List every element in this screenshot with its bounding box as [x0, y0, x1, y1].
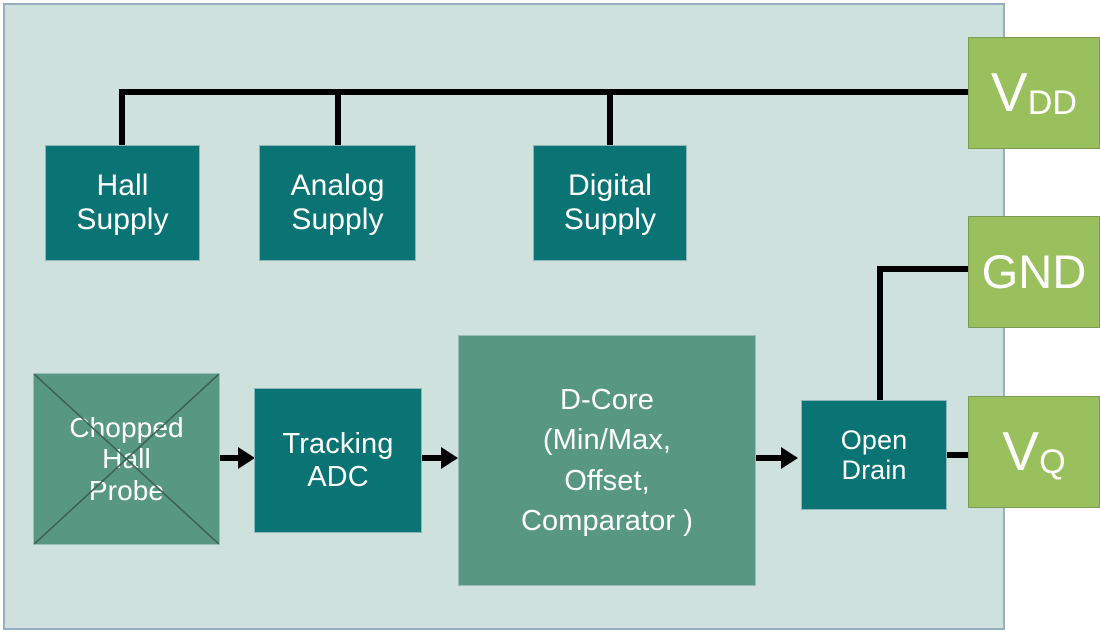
- tracking-adc-line-2: ADC: [307, 461, 369, 493]
- pin-vq-label: V: [1002, 421, 1039, 483]
- block-chopped-hall-probe[interactable]: Chopped Hall Probe: [33, 373, 220, 545]
- block-d-core[interactable]: D-Core (Min/Max, Offset, Comparator ): [458, 335, 756, 586]
- d-core-line-4: Comparator ): [521, 501, 693, 541]
- wire-gnd-horizontal: [877, 266, 972, 272]
- block-open-drain[interactable]: Open Drain: [801, 400, 947, 510]
- block-analog-supply[interactable]: Analog Supply: [259, 145, 416, 261]
- digital-supply-line-2: Supply: [564, 203, 656, 237]
- wire-vdd-to-hall-supply: [119, 89, 125, 149]
- d-core-line-2: (Min/Max,: [543, 420, 671, 460]
- hall-probe-line-3: Probe: [89, 475, 164, 506]
- open-drain-line-2: Drain: [841, 455, 906, 485]
- analog-supply-line-2: Supply: [291, 203, 383, 237]
- hall-probe-line-2: Hall: [102, 443, 151, 474]
- wire-vdd-rail: [119, 89, 972, 95]
- block-hall-supply[interactable]: Hall Supply: [45, 145, 200, 261]
- d-core-line-1: D-Core: [560, 380, 654, 420]
- wire-gnd-to-open-drain: [877, 266, 883, 406]
- block-diagram: Hall Supply Analog Supply Digital Supply…: [0, 0, 1100, 635]
- pin-vq-subscript: Q: [1039, 443, 1066, 481]
- hall-supply-line-1: Hall: [96, 169, 148, 203]
- wire-vdd-to-digital-supply: [607, 89, 613, 149]
- block-tracking-adc[interactable]: Tracking ADC: [254, 388, 422, 533]
- wire-vdd-to-analog-supply: [335, 89, 341, 149]
- hall-probe-line-1: Chopped: [69, 412, 183, 443]
- d-core-line-3: Offset,: [564, 461, 650, 501]
- pin-gnd[interactable]: GND: [968, 216, 1100, 328]
- tracking-adc-line-1: Tracking: [283, 428, 394, 460]
- arrow-dcore-to-open-drain: [781, 447, 798, 469]
- arrow-hall-probe-to-adc: [238, 447, 255, 469]
- pin-vq[interactable]: VQ: [968, 396, 1100, 508]
- pin-vdd-subscript: DD: [1028, 84, 1077, 122]
- pin-vdd-label: V: [991, 62, 1028, 124]
- hall-supply-line-2: Supply: [76, 203, 168, 237]
- open-drain-line-1: Open: [841, 425, 907, 455]
- pin-vdd[interactable]: VDD: [968, 37, 1100, 149]
- block-digital-supply[interactable]: Digital Supply: [533, 145, 687, 261]
- analog-supply-line-1: Analog: [290, 169, 384, 203]
- digital-supply-line-1: Digital: [568, 169, 652, 203]
- pin-gnd-label: GND: [982, 246, 1087, 299]
- arrow-adc-to-dcore: [441, 447, 458, 469]
